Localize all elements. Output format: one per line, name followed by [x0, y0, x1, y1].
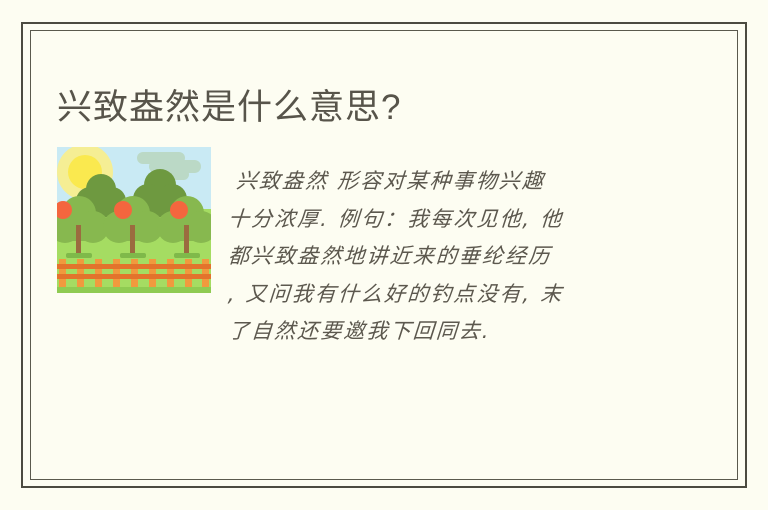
definition-line: , 又问我有什么好的钓点没有, 末 [227, 276, 662, 314]
definition-line: 了自然还要邀我下回同去. [227, 313, 662, 351]
definition-line: 都兴致盎然地讲近来的垂纶经历 [227, 238, 662, 276]
definition-line: 兴致盎然 形容对某种事物兴趣 [227, 163, 662, 201]
orchard-illustration-svg [57, 147, 211, 293]
page-title: 兴致盎然是什么意思? [57, 86, 401, 130]
definition-line: 十分浓厚. 例句：我每次见他, 他 [227, 201, 662, 239]
orchard-illustration [57, 147, 211, 293]
definition-text-block: 兴致盎然 形容对某种事物兴趣 十分浓厚. 例句：我每次见他, 他 都兴致盎然地讲… [228, 163, 660, 351]
page-root: 兴致盎然是什么意思? [0, 0, 768, 510]
ground-shadows [66, 253, 200, 258]
grass-strip [57, 287, 211, 293]
